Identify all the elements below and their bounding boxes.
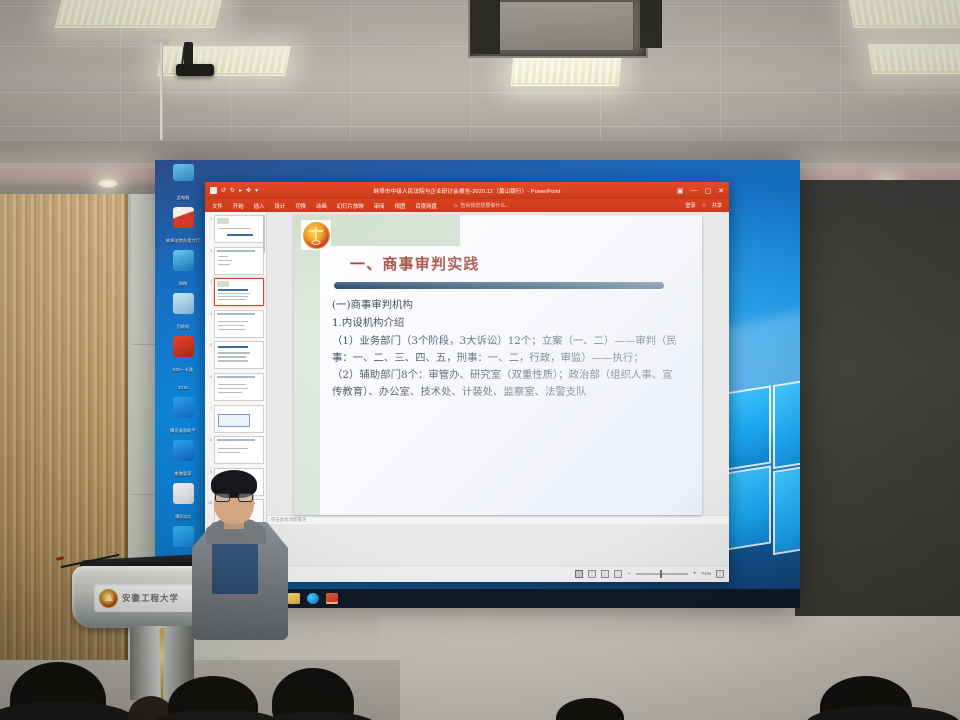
ceiling-panel-light bbox=[846, 0, 960, 28]
powerpoint-title-bar[interactable]: ↺ ↻ ▸ ✥ ▾ 蚌埠市中级人民法院与企业研讨会报告-2020.12（黄山银行… bbox=[205, 182, 729, 199]
lecture-hall-photo: 此电脑 蚌埠法院办案大厅 网络 回收站 EIS一卡通 2015 腾讯桌面助手 bbox=[0, 0, 960, 720]
tell-me-placeholder: 告诉我您想要做什么... bbox=[460, 202, 509, 209]
share-person-icon: ☃ bbox=[702, 203, 706, 209]
slide-thumbnail-selected[interactable]: 3 bbox=[208, 278, 264, 306]
desktop-icon-label: 腾讯桌面助手 bbox=[170, 428, 196, 433]
tab-design[interactable]: 设计 bbox=[274, 202, 285, 210]
current-slide[interactable]: 一、商事审判实践 (一)商事审判机构 1.内设机构介绍 （1）业务部门（3个阶段… bbox=[294, 215, 702, 515]
windows-logo-pane bbox=[775, 377, 800, 467]
slide-thumbnail[interactable]: 5 bbox=[208, 341, 264, 369]
desktop-icon-recycle-bin[interactable]: 回收站 bbox=[161, 293, 205, 333]
ceiling-panel-light bbox=[868, 44, 960, 74]
desktop-icon-label: 蚌埠法院办案大厅 bbox=[166, 238, 200, 243]
desktop-icon-this-pc[interactable]: 此电脑 bbox=[161, 164, 205, 204]
zoom-slider[interactable] bbox=[636, 573, 688, 574]
university-crest-icon bbox=[100, 590, 117, 607]
audience bbox=[0, 610, 960, 720]
tab-insert[interactable]: 插入 bbox=[254, 202, 265, 210]
slide-thumbnail[interactable]: 6 bbox=[208, 373, 264, 401]
thumbnail-number: 4 bbox=[208, 310, 212, 316]
slide-thumbnail[interactable]: 2 bbox=[208, 247, 264, 275]
zoom-in-button[interactable]: + bbox=[693, 571, 697, 577]
ceiling-panel-light bbox=[55, 0, 225, 28]
desktop-icon-desktop-assistant[interactable]: 腾讯桌面助手 bbox=[161, 397, 205, 437]
tell-me-box[interactable]: ☼ 告诉我您想要做什么... bbox=[453, 202, 510, 209]
tab-baidu-netdisk[interactable]: 百度网盘 bbox=[415, 202, 437, 210]
desktop-icon-court-hall[interactable]: 蚌埠法院办案大厅 bbox=[161, 207, 205, 247]
thumbnail-number: 7 bbox=[208, 405, 212, 411]
thumbnail-number: 3 bbox=[208, 278, 212, 284]
slide-thumbnail[interactable]: 4 bbox=[208, 310, 264, 338]
lightbulb-icon: ☼ bbox=[453, 203, 459, 209]
projector-body bbox=[176, 64, 214, 76]
minimize-button[interactable]: — bbox=[691, 187, 698, 194]
shortcut-icon bbox=[173, 207, 194, 228]
desktop-icon-label: 网络 bbox=[179, 281, 188, 286]
tab-animations[interactable]: 动画 bbox=[316, 202, 327, 210]
tab-home[interactable]: 开始 bbox=[233, 202, 244, 210]
view-slideshow-button[interactable] bbox=[614, 570, 622, 578]
tab-view[interactable]: 视图 bbox=[395, 202, 406, 210]
signin-label[interactable]: 登录 bbox=[685, 202, 695, 209]
status-right[interactable]: − + 71% bbox=[575, 570, 724, 578]
tab-slideshow[interactable]: 幻灯片放映 bbox=[337, 202, 364, 210]
zoom-out-button[interactable]: − bbox=[627, 571, 631, 577]
redo-icon[interactable]: ↻ bbox=[230, 187, 235, 194]
desktop-assistant-icon bbox=[173, 397, 194, 418]
desktop-icon-network[interactable]: 网络 bbox=[161, 250, 205, 290]
audience-head bbox=[556, 698, 624, 720]
thumbnail-scrollbar[interactable] bbox=[263, 215, 265, 253]
tab-transitions[interactable]: 切换 bbox=[295, 202, 306, 210]
pc-manager-shield-icon bbox=[173, 440, 194, 461]
network-icon bbox=[173, 250, 194, 271]
quick-access-toolbar[interactable]: ↺ ↻ ▸ ✥ ▾ bbox=[210, 187, 258, 194]
account-area[interactable]: 登录 ☃ 共享 bbox=[685, 202, 722, 209]
powerpoint-icon[interactable] bbox=[326, 593, 338, 604]
desktop-icon-label: EIS一卡通 2015 bbox=[173, 367, 193, 390]
downlight bbox=[98, 179, 118, 188]
window-controls[interactable]: ▣ — ▢ ✕ bbox=[677, 187, 724, 195]
edge-icon[interactable] bbox=[307, 593, 319, 604]
share-label[interactable]: 共享 bbox=[712, 202, 722, 209]
close-button[interactable]: ✕ bbox=[718, 187, 724, 195]
windows-logo-pane bbox=[775, 463, 800, 553]
customize-qat-icon[interactable]: ▾ bbox=[255, 187, 258, 194]
ribbon-display-options-icon[interactable]: ▣ bbox=[677, 187, 684, 195]
view-normal-button[interactable] bbox=[575, 570, 583, 578]
start-slideshow-icon[interactable]: ▸ bbox=[239, 187, 242, 194]
touch-mode-icon[interactable]: ✥ bbox=[246, 187, 251, 194]
thumbnail-number: 2 bbox=[208, 247, 212, 253]
desktop-icon-label: 此电脑 bbox=[177, 195, 190, 200]
slide-thumbnail[interactable]: 7 bbox=[208, 405, 264, 433]
ceiling bbox=[0, 0, 960, 140]
fit-slide-to-window-icon[interactable] bbox=[716, 570, 724, 578]
slide-editing-area: 一、商事审判实践 (一)商事审判机构 1.内设机构介绍 （1）业务部门（3个阶段… bbox=[267, 212, 729, 565]
desktop-icon-eis-card[interactable]: EIS一卡通 2015 bbox=[161, 336, 205, 394]
thumbnail-number: 6 bbox=[208, 373, 212, 379]
presenter-glasses bbox=[215, 493, 253, 502]
slide-thumbnail[interactable]: 1 bbox=[208, 215, 264, 243]
this-pc-icon bbox=[173, 164, 194, 185]
maximize-button[interactable]: ▢ bbox=[705, 187, 712, 195]
view-reading-button[interactable] bbox=[601, 570, 609, 578]
tab-file[interactable]: 文件 bbox=[212, 202, 223, 210]
zoom-level[interactable]: 71% bbox=[701, 572, 711, 577]
university-name: 安徽工程大学 bbox=[122, 592, 179, 604]
audience-shoulders bbox=[0, 702, 136, 720]
ceiling-panel-light bbox=[511, 56, 622, 86]
notes-pane[interactable]: 单击此处添加备注 bbox=[267, 515, 729, 524]
save-icon[interactable] bbox=[210, 187, 217, 194]
undo-icon[interactable]: ↺ bbox=[221, 187, 226, 194]
thumbnail-number: 5 bbox=[208, 341, 212, 347]
desktop-icon-label: 回收站 bbox=[177, 324, 190, 329]
thumbnail-number: 8 bbox=[208, 436, 212, 442]
view-slide-sorter-button[interactable] bbox=[588, 570, 596, 578]
ribbon-tab-bar[interactable]: 文件 开始 插入 设计 切换 动画 幻灯片放映 审阅 视图 百度网盘 ☼ 告诉我… bbox=[205, 199, 729, 212]
slide-thumbnail[interactable]: 8 bbox=[208, 436, 264, 464]
wall-panel-right bbox=[795, 180, 960, 650]
document-title: 蚌埠市中级人民法院与企业研讨会报告-2020.12（黄山银行）- PowerPo… bbox=[205, 187, 729, 195]
eis-card-icon bbox=[173, 336, 194, 357]
projector-glare bbox=[294, 215, 702, 515]
recycle-bin-icon bbox=[173, 293, 194, 314]
tab-review[interactable]: 审阅 bbox=[374, 202, 385, 210]
thumbnail-number: 1 bbox=[208, 215, 212, 221]
